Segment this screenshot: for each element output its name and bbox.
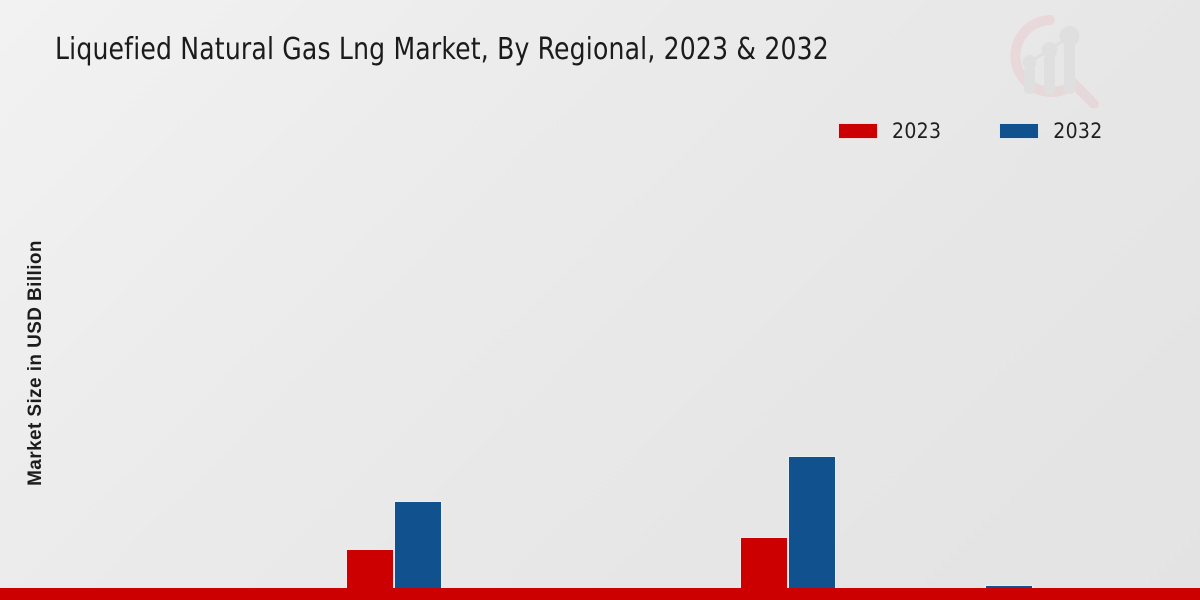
bar-group bbox=[543, 160, 639, 600]
chart-canvas: Liquefied Natural Gas Lng Market, By Reg… bbox=[0, 0, 1200, 600]
bar-group bbox=[346, 160, 442, 600]
bar-group bbox=[149, 160, 245, 600]
legend-swatch-2032 bbox=[999, 123, 1039, 139]
plot-area: NORTHAMERICAEUROPESOUTHAMERICAASIAPACIFI… bbox=[40, 160, 1190, 468]
legend-label-2023: 2023 bbox=[892, 119, 941, 143]
legend-item-2023[interactable]: 2023 bbox=[838, 119, 941, 143]
watermark-logo-icon bbox=[1002, 12, 1102, 108]
bar-2032[interactable] bbox=[788, 456, 836, 600]
legend-item-2032[interactable]: 2032 bbox=[999, 119, 1102, 143]
bar-group bbox=[937, 160, 1033, 600]
legend-label-2032: 2032 bbox=[1053, 119, 1102, 143]
chart-legend: 2023 2032 bbox=[838, 119, 1103, 143]
bar-group bbox=[740, 160, 836, 600]
chart-title: Liquefied Natural Gas Lng Market, By Reg… bbox=[55, 32, 829, 67]
legend-swatch-2023 bbox=[838, 123, 878, 139]
bottom-accent-bar bbox=[0, 588, 1200, 600]
bar-2032[interactable] bbox=[394, 501, 442, 600]
